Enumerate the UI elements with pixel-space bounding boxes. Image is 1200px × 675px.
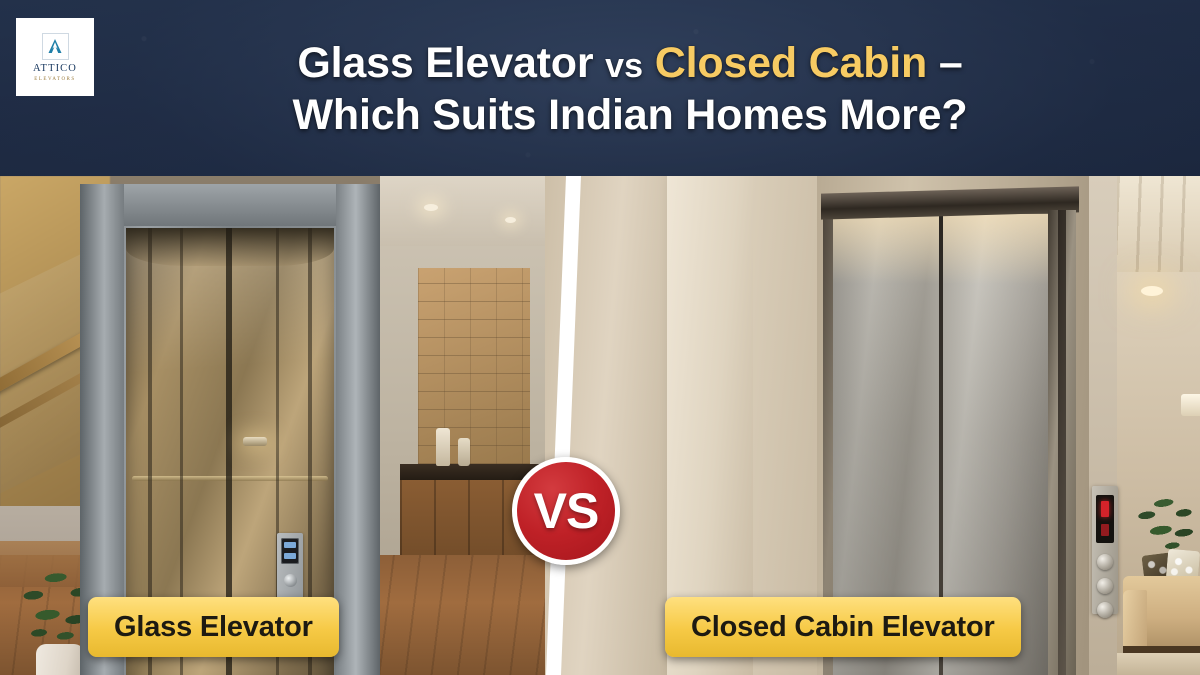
left-elevator-jamb-right (336, 184, 380, 675)
right-table-lamp-icon (1181, 394, 1200, 416)
attico-a-mark-icon (42, 33, 69, 60)
right-room-beamed-ceiling (1117, 176, 1200, 272)
vs-badge: VS (512, 457, 620, 565)
left-ceiling-downlight-icon (424, 204, 438, 211)
left-stone-wall-panel (418, 268, 530, 464)
right-sofa-armrest (1123, 590, 1147, 654)
left-panel-round-button[interactable] (284, 574, 297, 587)
logo-tagline-text: ELEVATORS (34, 77, 75, 82)
right-left-wall (545, 176, 677, 675)
left-ceiling-downlight-2-icon (505, 217, 516, 223)
right-panel-digit-icon (1101, 501, 1109, 517)
right-panel-button-3[interactable] (1097, 602, 1113, 618)
left-vase (436, 428, 450, 466)
right-panel-arrow-icon (1101, 524, 1109, 536)
comparison-banner: ATTICO ELEVATORS Glass Elevator vs Close… (0, 0, 1200, 675)
left-caption-pill: Glass Elevator (88, 597, 339, 657)
right-room-wall-light-icon (1141, 286, 1163, 296)
headline-dash: – (939, 39, 963, 87)
right-caption-label: Closed Cabin Elevator (691, 611, 995, 644)
headline-part-closed-cabin: Closed Cabin (655, 39, 927, 87)
photo-stage: VS Glass Elevator Closed Cabin Elevator (0, 176, 1200, 675)
headline-part-glass-elevator: Glass Elevator (297, 39, 593, 87)
right-panel-button-1[interactable] (1097, 554, 1113, 570)
brand-logo[interactable]: ATTICO ELEVATORS (16, 18, 94, 96)
left-caption-label: Glass Elevator (114, 611, 313, 644)
right-caption-pill: Closed Cabin Elevator (665, 597, 1021, 657)
logo-brand-text: ATTICO (33, 64, 77, 75)
right-floor-rug (1117, 653, 1200, 675)
headline-line-2: Which Suits Indian Homes More? (293, 89, 968, 141)
headline-line-1: Glass Elevator vs Closed Cabin – (297, 37, 962, 89)
right-panel-button-2[interactable] (1097, 578, 1113, 594)
right-elevator-jamb-shadow (1058, 210, 1066, 675)
vs-badge-label: VS (534, 486, 599, 536)
headline-vs-word: vs (605, 47, 643, 85)
left-vase-2 (458, 438, 470, 466)
left-wall-lamp-icon (243, 437, 267, 446)
left-panel-display-icon (281, 538, 299, 564)
left-elevator-frame-header (80, 184, 380, 226)
headline-block: Glass Elevator vs Closed Cabin – Which S… (100, 14, 1160, 164)
